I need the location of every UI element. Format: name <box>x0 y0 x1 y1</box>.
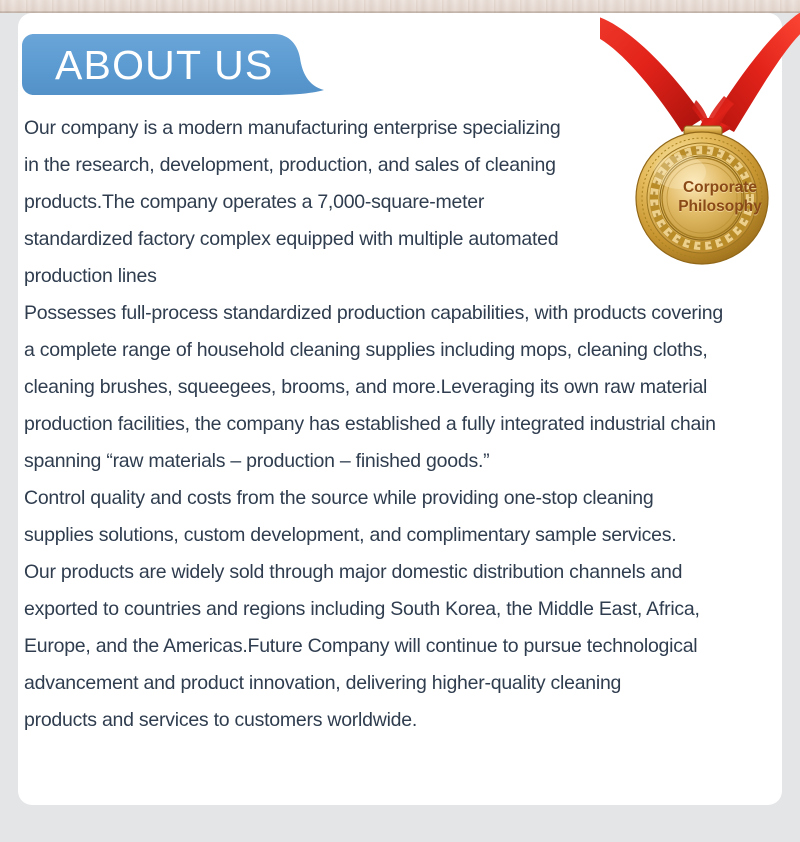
body-line: Our company is a modern manufacturing en… <box>24 110 776 147</box>
body-line: a complete range of household cleaning s… <box>24 332 776 369</box>
body-line: standardized factory complex equipped wi… <box>24 221 776 258</box>
body-line: Possesses full-process standardized prod… <box>24 295 776 332</box>
body-line: cleaning brushes, squeegees, brooms, and… <box>24 369 776 406</box>
medal-label-line-2: Philosophy <box>660 197 780 216</box>
paragraph-2: Possesses full-process standardized prod… <box>24 295 776 480</box>
body-line: products and services to customers world… <box>24 702 776 739</box>
medal-label-line-1: Corporate <box>660 178 780 197</box>
paragraph-3: Control quality and costs from the sourc… <box>24 480 776 739</box>
body-line: Control quality and costs from the sourc… <box>24 480 776 517</box>
body-line: supplies solutions, custom development, … <box>24 517 776 554</box>
body-line: advancement and product innovation, deli… <box>24 665 776 702</box>
wood-texture-strip <box>0 0 800 13</box>
body-line: Our products are widely sold through maj… <box>24 554 776 591</box>
body-line: production lines <box>24 258 776 295</box>
body-line: Europe, and the Americas.Future Company … <box>24 628 776 665</box>
page-title: ABOUT US <box>55 36 273 94</box>
body-line: spanning “raw materials – production – f… <box>24 443 776 480</box>
body-line: exported to countries and regions includ… <box>24 591 776 628</box>
body-line: production facilities, the company has e… <box>24 406 776 443</box>
medal-label: Corporate Philosophy <box>660 178 780 216</box>
